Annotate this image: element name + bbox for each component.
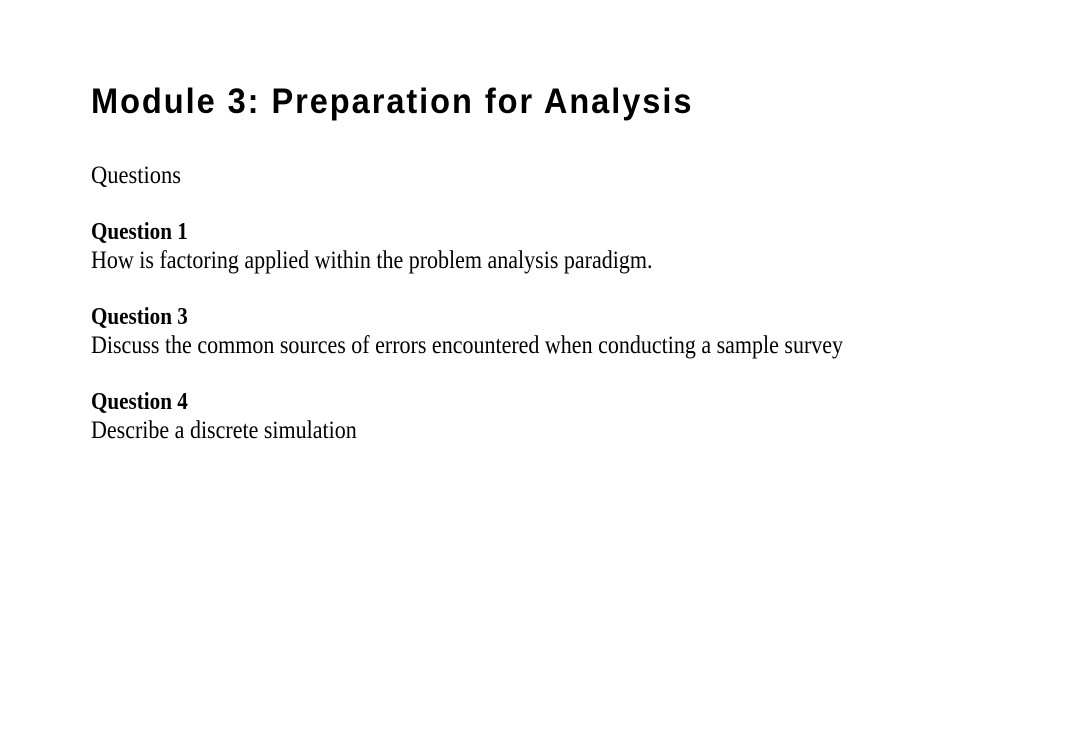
document-body: Module 3: Preparation for Analysis Quest… bbox=[91, 82, 991, 122]
question-block-1: Question 1 How is factoring applied with… bbox=[91, 218, 1051, 276]
document-page: Module 3: Preparation for Analysis Quest… bbox=[0, 0, 1071, 741]
question-1-heading: Question 1 bbox=[91, 218, 936, 246]
question-3-heading: Question 3 bbox=[91, 303, 936, 331]
question-4-heading: Question 4 bbox=[91, 388, 936, 416]
question-4-text: Describe a discrete simulation bbox=[91, 416, 936, 446]
question-block-3: Question 3 Discuss the common sources of… bbox=[91, 303, 1051, 361]
question-3-text: Discuss the common sources of errors enc… bbox=[91, 331, 936, 361]
question-block-4: Question 4 Describe a discrete simulatio… bbox=[91, 388, 1051, 446]
section-label-questions: Questions bbox=[91, 162, 181, 190]
question-1-text: How is factoring applied within the prob… bbox=[91, 246, 936, 276]
page-title: Module 3: Preparation for Analysis bbox=[91, 82, 928, 122]
